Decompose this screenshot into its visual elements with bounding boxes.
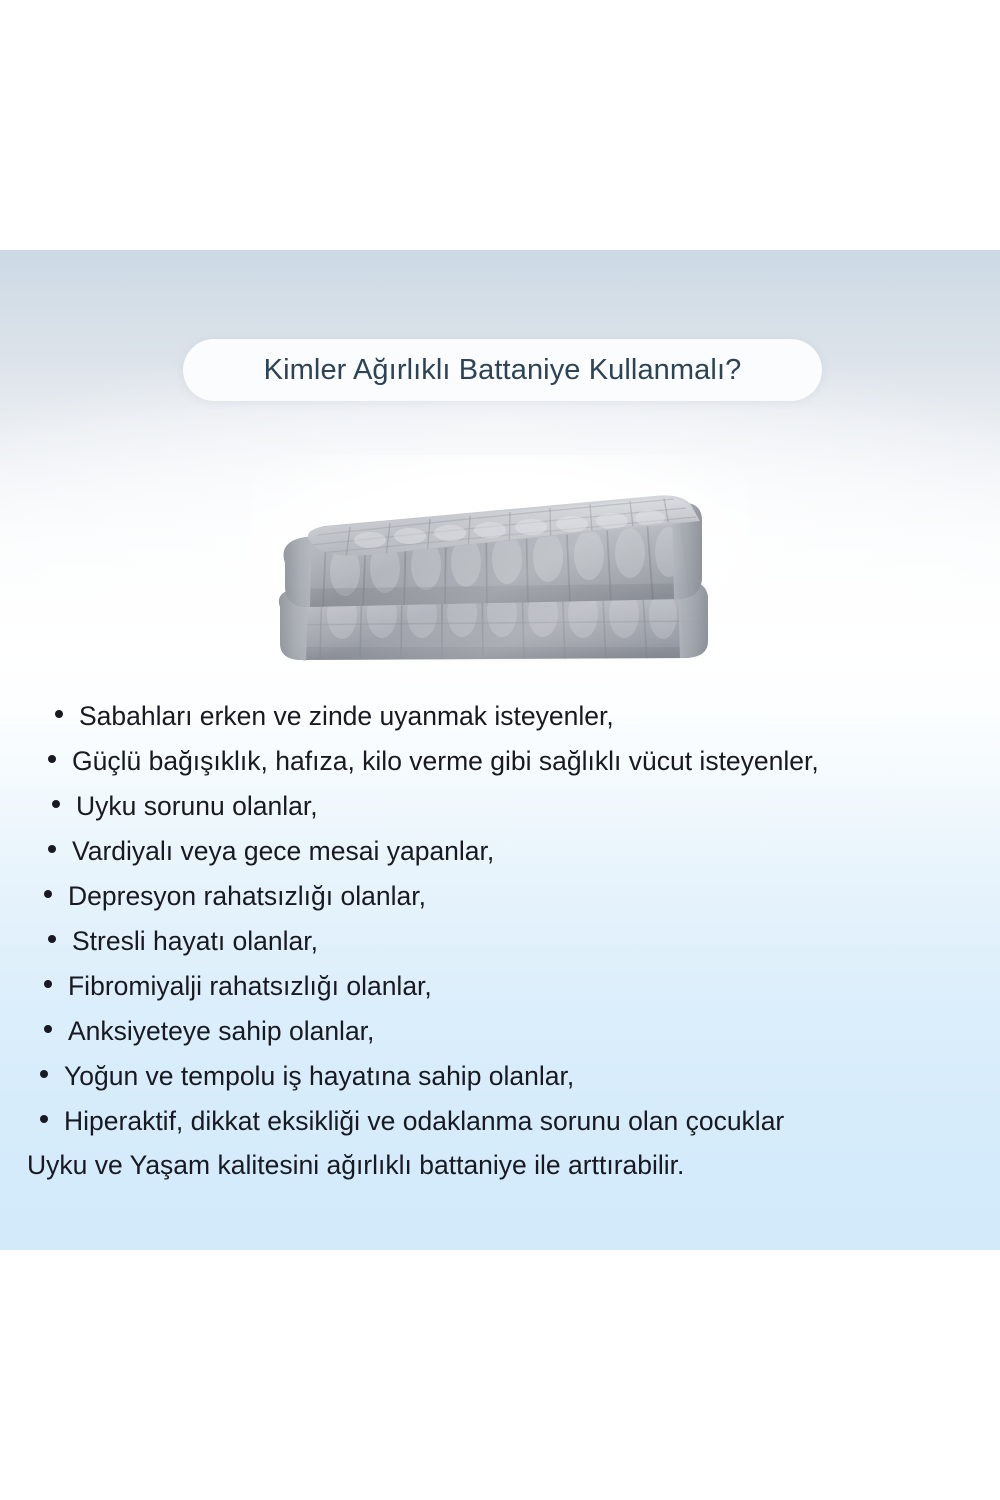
bullet-dot-icon (48, 845, 56, 853)
bullet-dot-icon (55, 710, 63, 718)
list-item: Yoğun ve tempolu iş hayatına sahip olanl… (0, 1063, 1000, 1108)
list-item-label: Depresyon rahatsızlığı olanlar, (68, 883, 426, 910)
list-item-label: Vardiyalı veya gece mesai yapanlar, (72, 838, 494, 865)
bullet-dot-icon (44, 890, 52, 898)
bullet-dot-icon (48, 755, 56, 763)
weighted-blanket-illustration (250, 455, 750, 685)
list-item: Stresli hayatı olanlar, (0, 928, 1000, 973)
list-item: Anksiyeteye sahip olanlar, (0, 1018, 1000, 1063)
list-item-label: Hiperaktif, dikkat eksikliği ve odaklanm… (64, 1108, 784, 1135)
title-pill: Kimler Ağırlıklı Battaniye Kullanmalı? (183, 339, 822, 401)
list-item: Vardiyalı veya gece mesai yapanlar, (0, 838, 1000, 883)
bullet-dot-icon (52, 800, 60, 808)
list-item: Güçlü bağışıklık, hafıza, kilo verme gib… (0, 748, 1000, 793)
bullet-dot-icon (40, 1070, 48, 1078)
bullet-dot-icon (48, 935, 56, 943)
list-item: Depresyon rahatsızlığı olanlar, (0, 883, 1000, 928)
list-item: Uyku sorunu olanlar, (0, 793, 1000, 838)
page-title: Kimler Ağırlıklı Battaniye Kullanmalı? (264, 354, 742, 387)
list-item-label: Anksiyeteye sahip olanlar, (68, 1018, 374, 1045)
bullet-dot-icon (44, 1025, 52, 1033)
list-item-label: Uyku sorunu olanlar, (76, 793, 318, 820)
list-item-label: Fibromiyalji rahatsızlığı olanlar, (68, 973, 432, 1000)
list-item-label: Stresli hayatı olanlar, (72, 928, 318, 955)
list-item-label: Sabahları erken ve zinde uyanmak isteyen… (79, 703, 614, 730)
page-canvas: Kimler Ağırlıklı Battaniye Kullanmalı? (0, 0, 1000, 1500)
product-image-container (250, 455, 750, 685)
list-item: Fibromiyalji rahatsızlığı olanlar, (0, 973, 1000, 1018)
list-item-label: Yoğun ve tempolu iş hayatına sahip olanl… (64, 1063, 574, 1090)
list-item-label: Güçlü bağışıklık, hafıza, kilo verme gib… (72, 748, 819, 775)
bullet-dot-icon (44, 980, 52, 988)
benefits-list: Sabahları erken ve zinde uyanmak isteyen… (0, 703, 1000, 1153)
bullet-dot-icon (40, 1115, 48, 1123)
closing-statement: Uyku ve Yaşam kalitesini ağırlıklı batta… (27, 1152, 684, 1179)
list-item: Sabahları erken ve zinde uyanmak isteyen… (0, 703, 1000, 748)
list-item: Hiperaktif, dikkat eksikliği ve odaklanm… (0, 1108, 1000, 1153)
